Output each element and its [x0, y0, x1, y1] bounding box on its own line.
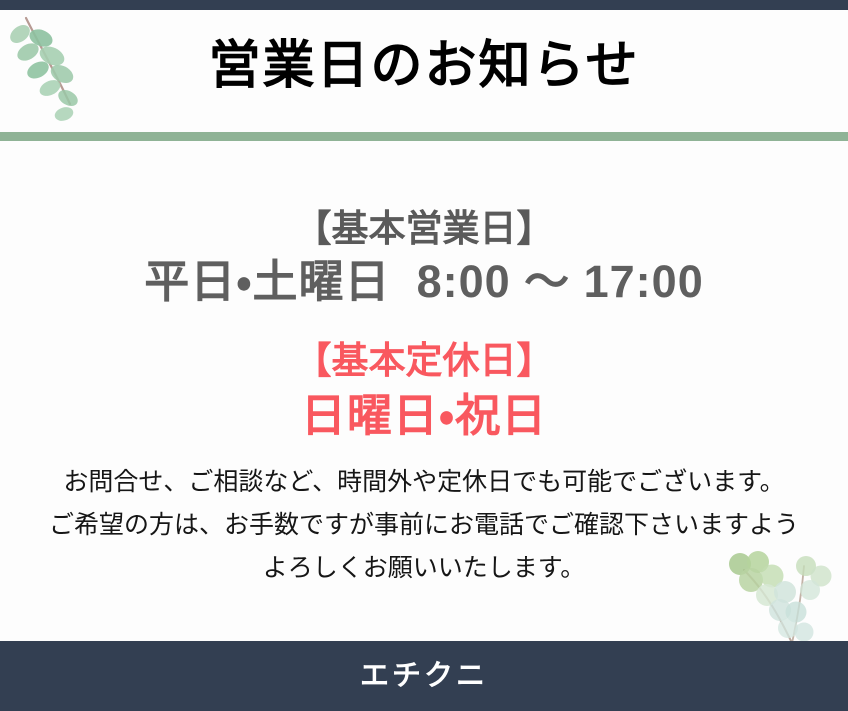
note-line-2: ご希望の方は、お手数ですが事前にお電話でご確認下さいますよう: [0, 504, 848, 547]
page-title: 営業日のお知らせ: [0, 38, 848, 95]
company-name: エチクニ: [0, 641, 848, 711]
sage-divider: [0, 132, 848, 141]
main-content: 【基本営業日】 平日・土曜日8:00 ～ 17:00 【基本定休日】 日曜日・祝…: [0, 141, 848, 641]
open-time-value: 8:00 ～ 17:00: [417, 256, 704, 307]
note-line-1: お問合せ、ご相談など、時間外や定休日でも可能でございます。: [0, 461, 848, 504]
business-hours-poster: 営業日のお知らせ 【基本営業日】 平日・土曜日8:00 ～ 17:00 【基本定…: [0, 0, 848, 711]
note-line-3: よろしくお願いいたします。: [0, 547, 848, 590]
footer: エチクニ: [0, 641, 848, 711]
note-paragraph: お問合せ、ご相談など、時間外や定休日でも可能でございます。 ご希望の方は、お手数…: [0, 461, 848, 590]
open-days-heading: 【基本営業日】: [0, 198, 848, 252]
top-accent-bar: [0, 0, 848, 10]
header: 営業日のお知らせ: [0, 10, 848, 132]
open-days-hours: 平日・土曜日8:00 ～ 17:00: [0, 245, 848, 310]
closed-days-heading: 【基本定休日】: [0, 330, 848, 384]
closed-days-value: 日曜日・祝日: [0, 379, 848, 444]
open-days-value: 平日・土曜日: [144, 256, 390, 307]
